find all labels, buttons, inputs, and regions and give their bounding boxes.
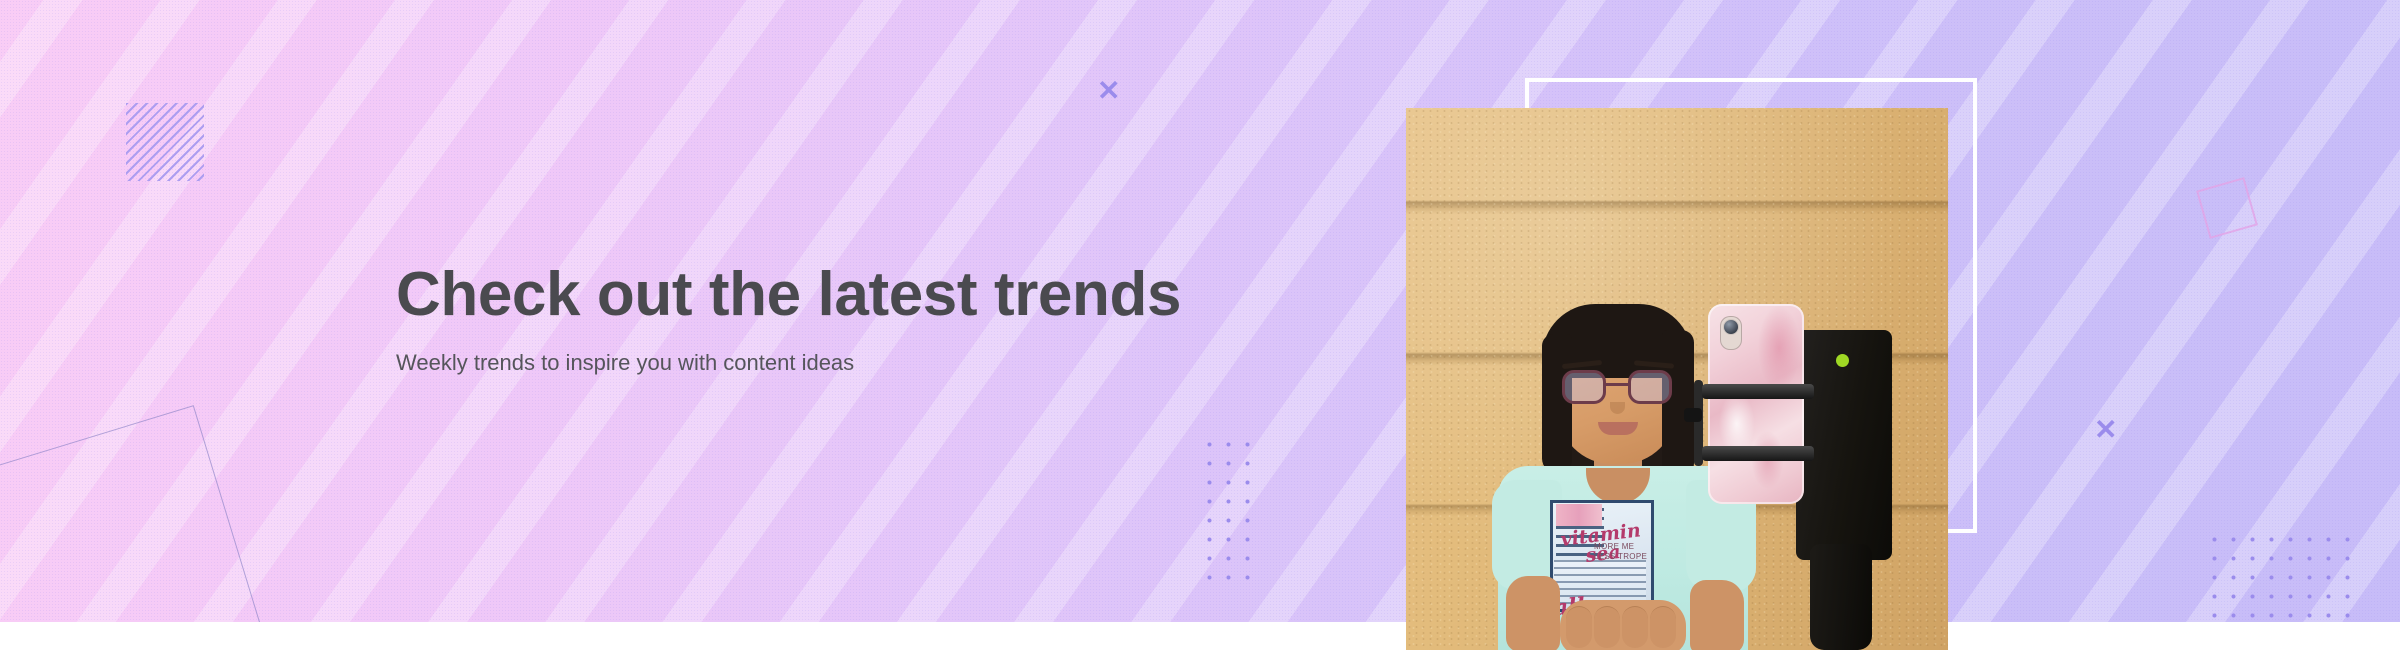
tripod-leg <box>1810 544 1872 650</box>
shirt-print-pink-band <box>1556 504 1602 526</box>
x-mark-icon: ✕ <box>2094 416 2117 444</box>
phone-clamp-knob <box>1684 408 1702 422</box>
camera-lens-icon <box>1723 319 1739 335</box>
dot-grid-decoration <box>1200 435 1258 585</box>
page-subtitle: Weekly trends to inspire you with conten… <box>396 348 1296 379</box>
x-mark-icon: ✕ <box>1097 77 1120 105</box>
phone-clamp <box>1702 384 1814 399</box>
arm-left <box>1506 576 1560 650</box>
line-corner-decoration <box>0 405 290 622</box>
arm-right <box>1690 580 1744 650</box>
glasses-icon <box>1560 370 1676 404</box>
phone-clamp <box>1702 446 1814 461</box>
hero-photo: vitamin sea MORE ME LESS TROPE all <box>1406 108 1948 650</box>
finger <box>1622 606 1648 648</box>
hands <box>1560 600 1686 650</box>
shirt-print-subtext: MORE ME LESS TROPE <box>1594 542 1656 562</box>
hair-left <box>1542 334 1572 474</box>
hair-right <box>1662 330 1694 480</box>
banner-copy: Check out the latest trends Weekly trend… <box>396 262 1296 379</box>
diamond-outline-decoration <box>2196 177 2258 239</box>
page-title: Check out the latest trends <box>396 262 1296 328</box>
tripod-indicator-light <box>1836 354 1849 367</box>
hero-banner: ✕ ✕ Check out the latest trends Weekly t… <box>0 0 2400 650</box>
glasses-lens-right <box>1628 370 1672 404</box>
finger <box>1566 606 1592 648</box>
glasses-lens-left <box>1562 370 1606 404</box>
phone-with-marble-case <box>1708 304 1804 504</box>
striped-square-decoration <box>126 103 204 181</box>
dot-grid-decoration <box>2205 530 2361 622</box>
finger <box>1594 606 1620 648</box>
finger <box>1650 606 1676 648</box>
glasses-bridge <box>1606 383 1628 386</box>
